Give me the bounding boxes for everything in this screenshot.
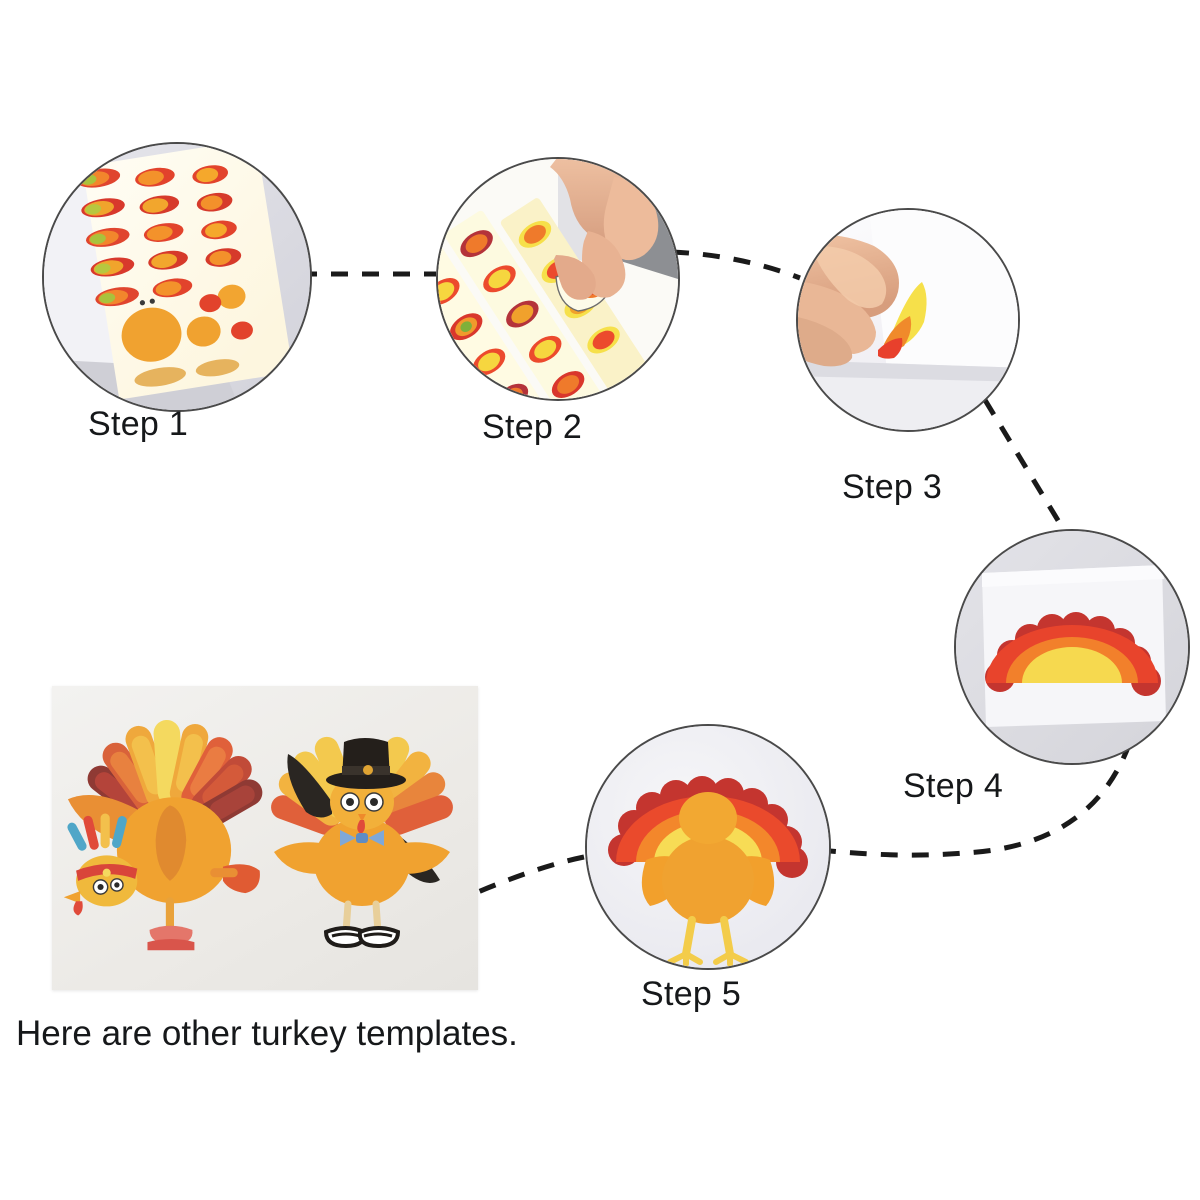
step-3-image [796,208,1020,432]
connector-step2-step3 [672,252,800,278]
step-4-label: Step 4 [903,767,1003,806]
templates-panel [52,686,478,990]
native-headdress-turkey-template [64,719,267,950]
step-2-image [436,157,680,401]
step-1-image [42,142,312,412]
step-2-label: Step 2 [482,408,582,447]
step-3-label: Step 3 [842,468,942,507]
instruction-infographic: Step 1 [0,0,1200,1200]
templates-caption: Here are other turkey templates. [16,1014,518,1054]
step-5-image [585,724,831,970]
connector-step3-step4 [985,400,1062,527]
pilgrim-hat-turkey-template [268,733,457,946]
step-4-image [954,529,1190,765]
step-5-label: Step 5 [641,975,741,1014]
step-1-label: Step 1 [88,405,188,444]
connector-step5-templates [478,857,584,892]
